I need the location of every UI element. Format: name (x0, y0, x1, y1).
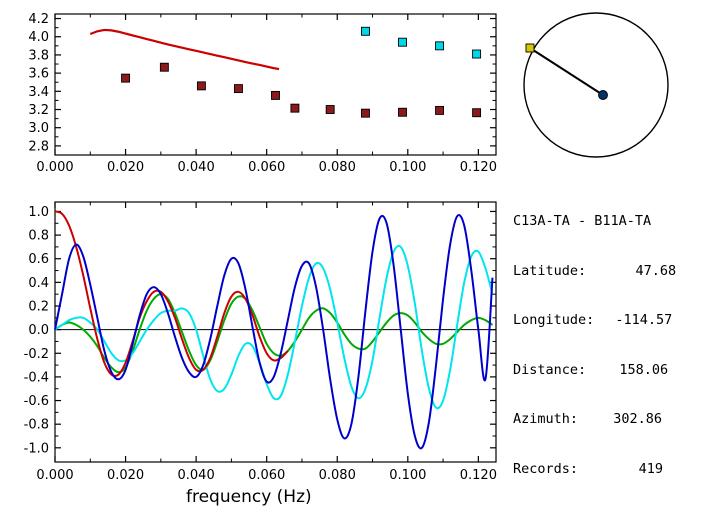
svg-text:0.080: 0.080 (319, 468, 356, 480)
svg-text:0.020: 0.020 (107, 468, 144, 480)
longitude-row: Longitude:-114.57 (513, 312, 703, 329)
dispersion-panel: 0.0000.0200.0400.0600.0800.1000.1202.83.… (0, 0, 510, 185)
azimuth-inset (505, 2, 703, 172)
svg-text:0.040: 0.040 (178, 468, 215, 480)
svg-text:1.0: 1.0 (28, 205, 49, 220)
svg-text:0.6: 0.6 (28, 252, 49, 267)
svg-text:0.2: 0.2 (28, 300, 49, 315)
svg-text:0.000: 0.000 (36, 468, 73, 480)
distance-row: Distance:158.06 (513, 362, 703, 379)
records-value: 419 (578, 461, 663, 478)
svg-text:0.8: 0.8 (28, 229, 49, 244)
svg-text:0.060: 0.060 (248, 468, 285, 480)
svg-text:3.2: 3.2 (28, 103, 49, 118)
waveform-plot: 0.0000.0200.0400.0600.0800.1000.120-1.0-… (0, 190, 510, 480)
svg-text:0.0: 0.0 (28, 323, 49, 338)
station-pair: C13A-TA - B11A-TA (513, 213, 703, 230)
svg-text:3.0: 3.0 (28, 121, 49, 136)
svg-text:3.8: 3.8 (28, 48, 49, 63)
svg-text:4.2: 4.2 (28, 12, 49, 27)
distance-value: 158.06 (586, 362, 668, 379)
svg-text:0.120: 0.120 (460, 160, 497, 175)
svg-text:-0.6: -0.6 (24, 394, 49, 409)
svg-text:0.000: 0.000 (36, 160, 73, 175)
dispersion-plot: 0.0000.0200.0400.0600.0800.1000.1202.83.… (0, 0, 510, 185)
x-axis-label: frequency (Hz) (186, 487, 312, 507)
svg-text:-0.8: -0.8 (24, 418, 49, 433)
svg-text:-1.0: -1.0 (24, 441, 49, 456)
waveform-panel: 0.0000.0200.0400.0600.0800.1000.120-1.0-… (0, 190, 510, 480)
station-info: C13A-TA - B11A-TA Latitude:47.68 Longitu… (513, 180, 703, 494)
distance-label: Distance: (513, 362, 586, 378)
azimuth-value: 302.86 (578, 411, 662, 428)
svg-text:2.8: 2.8 (28, 139, 49, 154)
svg-text:-0.4: -0.4 (24, 370, 49, 385)
latitude-value: 47.68 (586, 263, 676, 280)
latitude-label: Latitude: (513, 263, 586, 279)
svg-text:0.040: 0.040 (178, 160, 215, 175)
longitude-label: Longitude: (513, 312, 594, 328)
svg-text:0.4: 0.4 (28, 276, 49, 291)
svg-text:3.6: 3.6 (28, 67, 49, 82)
latitude-row: Latitude:47.68 (513, 263, 703, 280)
records-row: Records:419 (513, 461, 703, 478)
svg-text:3.4: 3.4 (28, 85, 49, 100)
longitude-value: -114.57 (594, 312, 672, 329)
svg-text:0.120: 0.120 (460, 468, 497, 480)
azimuth-circle (505, 2, 703, 172)
svg-text:0.080: 0.080 (319, 160, 356, 175)
svg-text:0.100: 0.100 (389, 468, 426, 480)
svg-text:0.060: 0.060 (248, 160, 285, 175)
records-label: Records: (513, 461, 578, 477)
svg-text:4.0: 4.0 (28, 30, 49, 45)
azimuth-label: Azimuth: (513, 411, 578, 427)
svg-text:0.020: 0.020 (107, 160, 144, 175)
svg-text:-0.2: -0.2 (24, 347, 49, 362)
azimuth-row: Azimuth:302.86 (513, 411, 703, 428)
svg-text:0.100: 0.100 (389, 160, 426, 175)
